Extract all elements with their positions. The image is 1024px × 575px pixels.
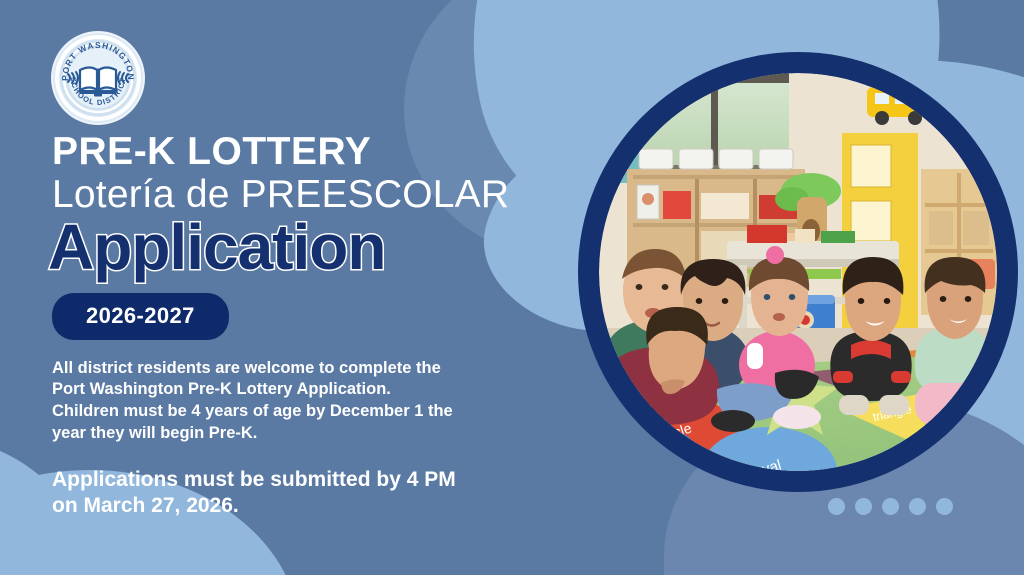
headline-line-1: PRE-K LOTTERY [52,132,572,171]
dot-3 [882,498,899,515]
headline-application: Application [48,215,572,279]
district-logo: PORT WASHINGTON SCHOOL DISTRICT [50,30,146,126]
dot-5 [936,498,953,515]
eligibility-paragraph: All district residents are welcome to co… [52,358,572,445]
school-year-badge: 2026-2027 [52,293,229,340]
prek-lottery-flyer: PORT WASHINGTON SCHOOL DISTRICT PRE-K LO… [0,0,1024,575]
deadline-paragraph: Applications must be submitted by 4 PM o… [52,467,572,520]
decorative-dots [828,498,953,515]
classroom-photo: circle oval star triangle [599,73,997,471]
dot-2 [855,498,872,515]
book-icon [78,68,118,97]
photo-speech-bubble: circle oval star triangle [578,52,1018,542]
headline-block: PRE-K LOTTERY Lotería de PREESCOLAR Appl… [52,132,572,520]
dot-4 [909,498,926,515]
dot-1 [828,498,845,515]
